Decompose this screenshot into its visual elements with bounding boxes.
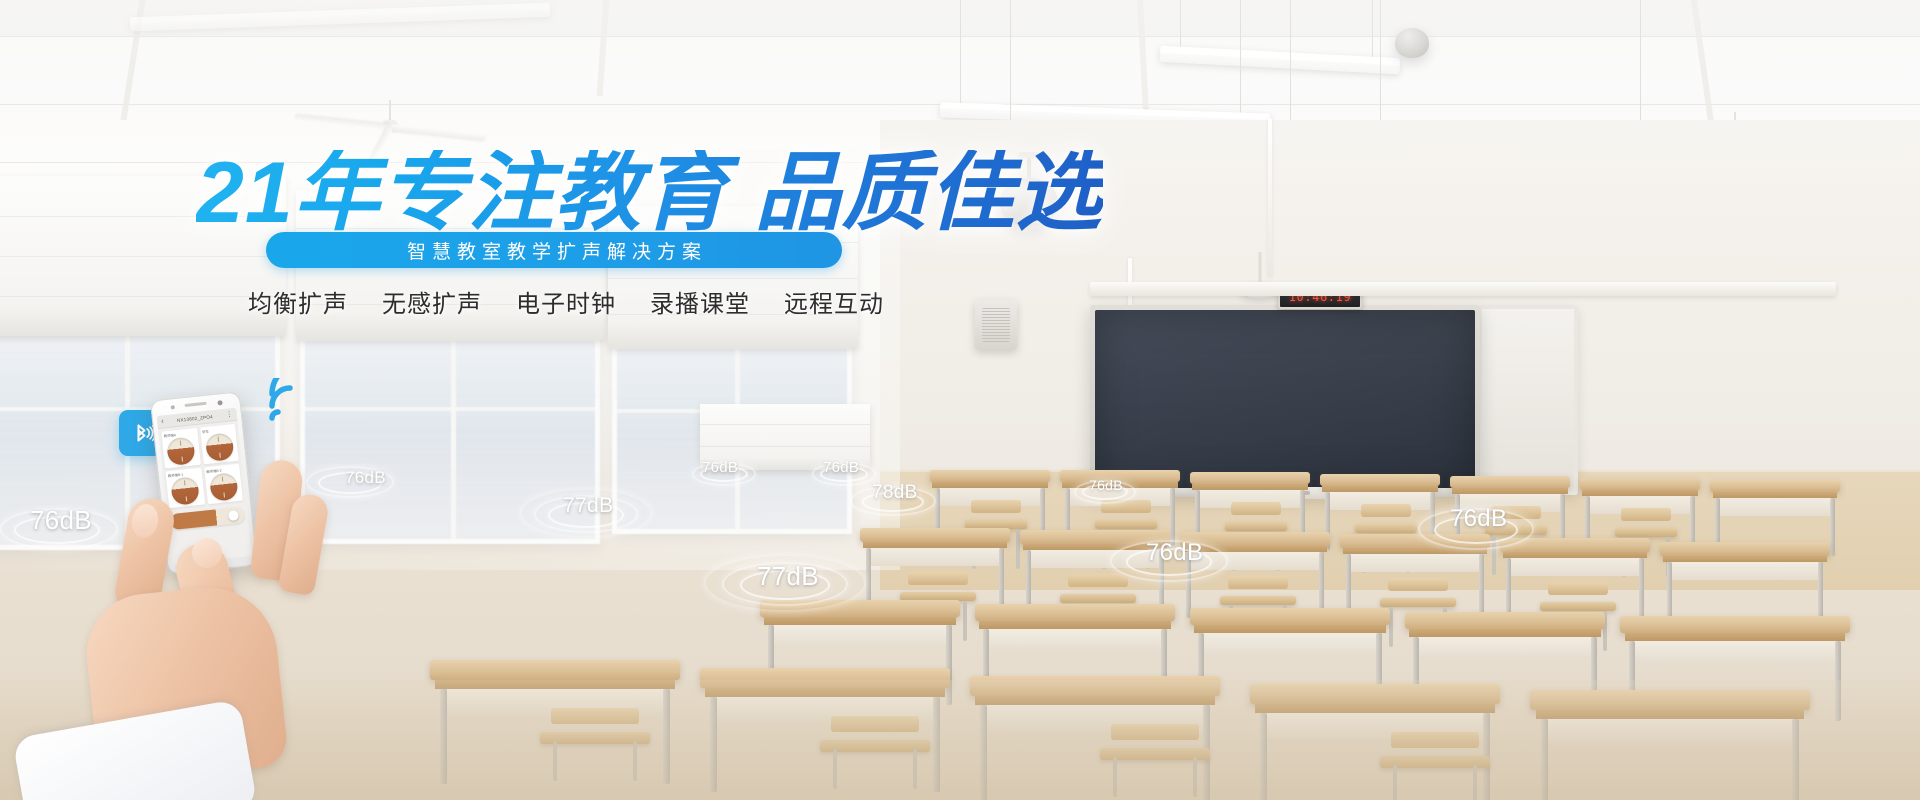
light-hang-wire	[1372, 0, 1373, 60]
ceiling-sensor-dome	[1395, 28, 1429, 58]
db-marker: 76dB	[1089, 477, 1123, 493]
db-marker: 76dB	[1450, 505, 1507, 533]
window-blind	[296, 190, 606, 340]
microphone-pole	[1268, 118, 1272, 278]
desk	[1190, 608, 1390, 678]
fan-rod	[389, 100, 391, 122]
db-marker: 78dB	[872, 482, 918, 504]
desk	[975, 604, 1175, 674]
desk	[1405, 612, 1605, 682]
wall-rail	[1090, 282, 1836, 296]
db-marker: 76dB	[1146, 539, 1203, 567]
app-card[interactable]: 学生	[200, 424, 239, 465]
blackboard	[1090, 305, 1480, 495]
light-hang-wire	[1180, 0, 1181, 52]
wall-speaker	[975, 300, 1017, 350]
speaker-mount-plate	[1018, 152, 1040, 158]
db-marker: 77dB	[563, 494, 613, 518]
db-marker: 76dB	[823, 459, 859, 476]
chevron-left-icon[interactable]: ‹	[161, 417, 164, 425]
light-hang-wire	[960, 0, 961, 108]
speaker-stem	[1259, 252, 1262, 284]
wifi-signal-icon	[266, 378, 314, 422]
hand-holding-phone	[60, 470, 480, 800]
db-marker: 76dB	[702, 459, 738, 476]
desk	[1660, 542, 1830, 598]
blackboard-side-panel-right	[1478, 305, 1578, 495]
desk	[1710, 480, 1840, 526]
ceiling-speaker-dome	[1000, 178, 1058, 226]
app-card[interactable]: 教师端A	[161, 428, 200, 469]
db-marker: 77dB	[757, 561, 819, 592]
volume-knob[interactable]	[166, 436, 196, 466]
speaker-neck	[1027, 156, 1031, 180]
app-card-label: 教师端A	[163, 432, 176, 438]
light-hang-wire	[1380, 0, 1381, 130]
desk	[1620, 616, 1850, 686]
speaker-grille	[982, 308, 1010, 342]
volume-knob[interactable]	[205, 432, 235, 462]
window-blind	[608, 206, 858, 348]
app-title: NX13802_ZPO4	[167, 413, 224, 424]
classroom-background-scene: 10:46:19	[0, 0, 1920, 800]
fan-blade	[390, 124, 486, 141]
more-vertical-icon[interactable]: ⋮	[225, 411, 233, 419]
app-card-label: 学生	[202, 429, 209, 435]
blackboard-surface	[1095, 310, 1475, 490]
window-rail	[305, 407, 595, 411]
window-blind	[0, 176, 286, 336]
light-hang-wire	[1240, 0, 1241, 116]
fan-blade	[294, 114, 390, 131]
